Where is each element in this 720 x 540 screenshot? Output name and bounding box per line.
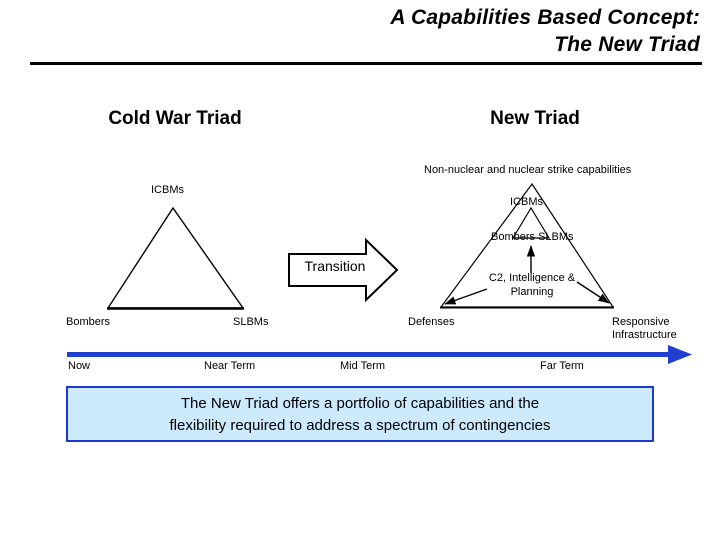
new-triad-bottom-right-label-line1: Responsive xyxy=(612,316,704,329)
cold-war-bottom-right-label: SLBMs xyxy=(233,316,268,329)
cold-war-apex-label: ICBMs xyxy=(151,184,184,197)
new-triad-bottom-right-label-line2: Infrastructure xyxy=(612,329,708,342)
timeline-tick-mid-term: Mid Term xyxy=(340,360,385,373)
cold-war-bottom-left-label: Bombers xyxy=(66,316,110,329)
cold-war-triangle xyxy=(108,208,243,308)
timeline-tick-near-term: Near Term xyxy=(204,360,255,373)
slide-canvas: A Capabilities Based Concept: The New Tr… xyxy=(0,0,720,540)
new-triad-center-label-line2: Planning xyxy=(461,286,603,299)
new-triad-center-label-line1: C2, Intelligence & xyxy=(461,272,603,285)
callout-text: The New Triad offers a portfolio of capa… xyxy=(66,393,654,437)
timeline-arrowhead xyxy=(668,345,692,364)
timeline-tick-now: Now xyxy=(68,360,90,373)
new-triad-bottom-left-label: Defenses xyxy=(408,316,454,329)
new-triad-inner-apex-label: ICBMs xyxy=(510,196,543,209)
timeline-tick-far-term: Far Term xyxy=(540,360,584,373)
callout-line1: The New Triad offers a portfolio of capa… xyxy=(66,393,654,415)
callout-line2: flexibility required to address a spectr… xyxy=(66,415,654,437)
transition-label: Transition xyxy=(296,258,374,275)
new-triad-apex-label: Non-nuclear and nuclear strike capabilit… xyxy=(424,164,631,177)
new-triad-inner-base-label: Bombers SLBMs xyxy=(491,231,574,244)
